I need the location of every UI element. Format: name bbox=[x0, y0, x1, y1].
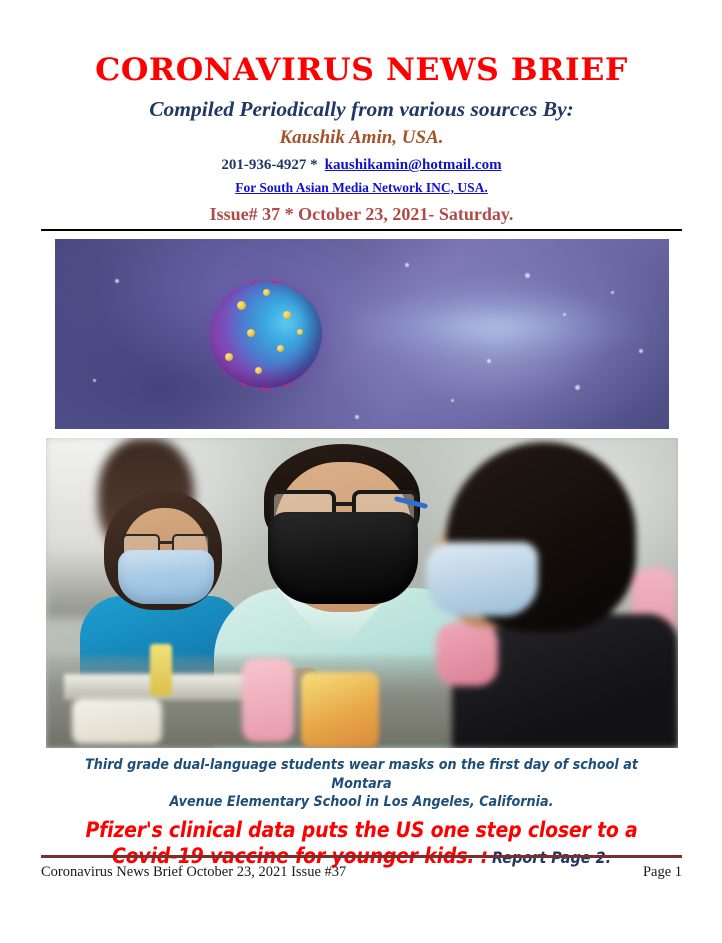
banner-speck bbox=[487, 359, 491, 363]
headline-text-1: Pfizer's clinical data puts the US one s… bbox=[85, 818, 637, 842]
header-divider bbox=[41, 229, 682, 231]
photo-paper bbox=[72, 698, 162, 744]
photo-caption: Third grade dual-language students wear … bbox=[41, 756, 682, 812]
masthead-compiled-by: Compiled Periodically from various sourc… bbox=[41, 96, 682, 123]
photo-caption-line-2: Avenue Elementary School in Los Angeles,… bbox=[59, 793, 664, 812]
coronavirus-particle-illustration bbox=[55, 239, 669, 429]
masthead-issue-line: Issue# 37 * October 23, 2021- Saturday. bbox=[41, 203, 682, 226]
photo-caption-line-1: Third grade dual-language students wear … bbox=[59, 756, 664, 793]
masthead: Coronavirus News Brief Compiled Periodic… bbox=[41, 0, 682, 225]
virus-receptor bbox=[247, 329, 255, 337]
masthead-email-link[interactable]: kaushikamin@hotmail.com bbox=[325, 157, 502, 173]
footer-row: Coronavirus News Brief October 23, 2021 … bbox=[41, 861, 682, 881]
page-footer: Coronavirus News Brief October 23, 2021 … bbox=[41, 855, 682, 881]
virus-receptor bbox=[277, 345, 284, 352]
virus-capsid bbox=[210, 282, 322, 388]
footer-page-number: Page 1 bbox=[643, 864, 682, 881]
banner-speck bbox=[451, 399, 454, 402]
page-content: Coronavirus News Brief Compiled Periodic… bbox=[41, 0, 682, 869]
masthead-contact-row: 201-936-4927 *kaushikamin@hotmail.com bbox=[41, 156, 682, 176]
virus-receptor bbox=[263, 289, 270, 296]
banner-speck bbox=[405, 263, 409, 267]
banner-speck bbox=[93, 379, 96, 382]
document-page: Coronavirus News Brief Compiled Periodic… bbox=[0, 0, 722, 943]
student-right bbox=[428, 438, 678, 748]
masthead-phone: 201-936-4927 * bbox=[221, 157, 317, 173]
newsletter-title: Coronavirus News Brief bbox=[35, 54, 689, 87]
footer-divider bbox=[41, 855, 682, 858]
banner-speck bbox=[115, 279, 119, 283]
student-right-face-mask bbox=[426, 542, 538, 616]
banner-speck bbox=[611, 291, 614, 294]
headline-line-1: Pfizer's clinical data puts the US one s… bbox=[41, 818, 682, 844]
virus-receptor bbox=[297, 329, 303, 335]
student-left-face-mask bbox=[118, 550, 214, 604]
student-right-pink-item bbox=[436, 622, 498, 686]
masthead-author: Kaushik Amin, USA. bbox=[41, 127, 682, 150]
virus-receptor bbox=[255, 367, 262, 374]
photo-supply-box bbox=[301, 672, 379, 748]
classroom-students-wearing-masks bbox=[46, 438, 678, 748]
banner-speck bbox=[639, 349, 643, 353]
virus-particle bbox=[151, 249, 381, 421]
virus-receptor bbox=[225, 353, 233, 361]
student-center-face-mask bbox=[268, 512, 418, 604]
banner-light-glow bbox=[344, 291, 644, 361]
banner-speck bbox=[563, 313, 566, 316]
virus-receptor bbox=[283, 311, 291, 319]
masthead-organization-link[interactable]: For South Asian Media Network INC, USA. bbox=[235, 180, 488, 195]
photo-supply bbox=[242, 658, 294, 742]
photo-glue-stick bbox=[150, 644, 172, 696]
banner-speck bbox=[575, 385, 580, 390]
footer-left-text: Coronavirus News Brief October 23, 2021 … bbox=[41, 864, 346, 881]
banner-speck bbox=[525, 273, 530, 278]
masthead-organization-row: For South Asian Media Network INC, USA. bbox=[41, 178, 682, 199]
virus-receptor bbox=[237, 301, 246, 310]
